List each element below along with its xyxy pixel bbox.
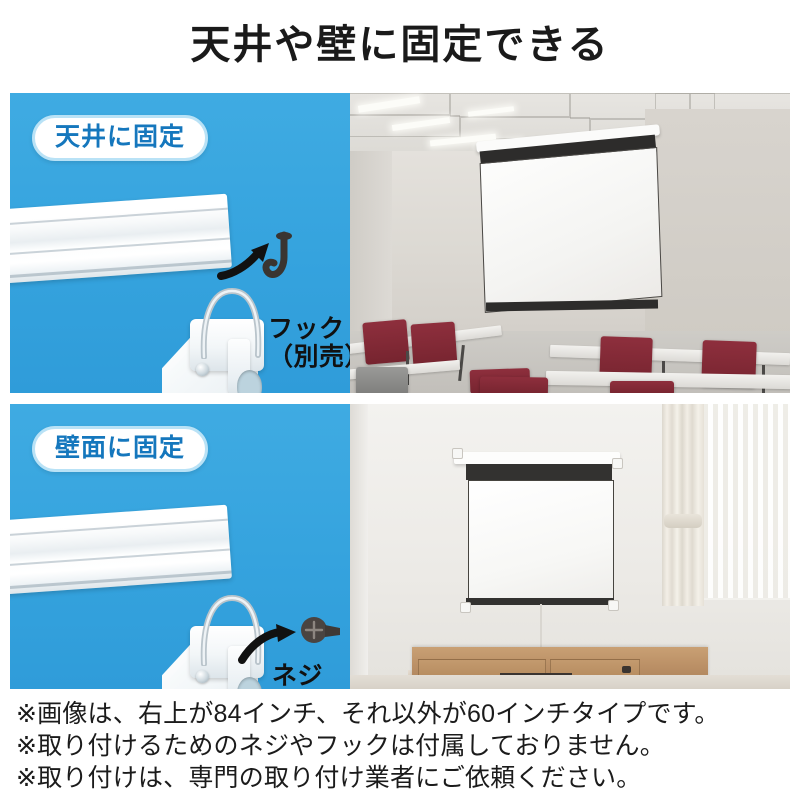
bracket-screw-head-ceiling xyxy=(196,363,209,376)
panel-wall-mount: 壁面に固定 ネジ xyxy=(10,404,790,689)
curtain-drape xyxy=(662,404,704,606)
ceiling-illustration-area: 天井に固定 xyxy=(10,93,350,393)
photo-classroom xyxy=(350,93,790,393)
living-room-wall-corner xyxy=(350,404,368,689)
hook-icon xyxy=(258,231,304,289)
footer-note-2: ※取り付けるためのネジやフックは付属しておりません。 xyxy=(16,730,786,762)
screen-wall-bracket-right xyxy=(612,458,623,469)
bracket-hole-ceiling xyxy=(237,370,262,393)
panel-ceiling-mount: 天井に固定 xyxy=(10,93,790,393)
page-title: 天井や壁に固定できる xyxy=(190,25,609,65)
projector-screen-surface xyxy=(480,147,663,313)
living-room-floor xyxy=(350,675,790,689)
callout-screw-line1: ネジ xyxy=(272,662,350,689)
screen-lower-bracket-right xyxy=(608,600,619,611)
screen-pull-cord xyxy=(540,604,542,650)
projector-screen-black-band xyxy=(466,464,612,480)
callout-screw: ネジ （別売） xyxy=(272,662,350,689)
classroom-wall-right xyxy=(645,109,790,339)
cabinet-handle xyxy=(622,666,631,673)
classroom-scene xyxy=(350,93,790,393)
wall-illustration-area: 壁面に固定 ネジ xyxy=(10,404,350,689)
living-room-scene xyxy=(350,404,790,689)
bracket-screw-head-wall xyxy=(196,670,209,683)
curved-arrow-icon-wall xyxy=(238,622,300,666)
footer-note-1: ※画像は、右上が84インチ、それ以外が60インチタイプです。 xyxy=(16,698,786,730)
callout-hook: フック （別売） xyxy=(268,315,350,371)
screen-lower-bracket-left xyxy=(460,602,471,613)
badge-wall-mount-label: 壁面に固定 xyxy=(55,435,185,461)
classroom-chair xyxy=(362,319,409,365)
callout-hook-line1: フック xyxy=(268,315,350,343)
curtain-tieback xyxy=(664,514,702,528)
screen-casing-ceiling xyxy=(10,194,232,285)
footer-note-3: ※取り付けは、専門の取り付け業者にご依頼ください。 xyxy=(16,762,786,794)
classroom-chair xyxy=(610,381,674,393)
badge-ceiling-mount: 天井に固定 xyxy=(32,115,208,161)
screen-casing-wall xyxy=(10,505,232,596)
photo-living-room xyxy=(350,404,790,689)
screen-wall-bracket-left xyxy=(452,448,463,459)
footer-notes: ※画像は、右上が84インチ、それ以外が60インチタイプです。 ※取り付けるための… xyxy=(16,698,786,794)
badge-ceiling-mount-label: 天井に固定 xyxy=(55,124,185,150)
projector-screen-casing xyxy=(454,452,620,464)
classroom-wall-corner xyxy=(350,151,392,341)
callout-hook-line2: （別売） xyxy=(268,343,350,371)
classroom-chair xyxy=(480,376,548,393)
screw-icon xyxy=(300,616,344,650)
badge-wall-mount: 壁面に固定 xyxy=(32,426,208,472)
projector-screen-surface xyxy=(468,480,614,602)
wire-loop-ceiling xyxy=(194,283,274,359)
classroom-chair-seat xyxy=(356,367,408,393)
page-title-bar: 天井や壁に固定できる xyxy=(0,0,800,90)
